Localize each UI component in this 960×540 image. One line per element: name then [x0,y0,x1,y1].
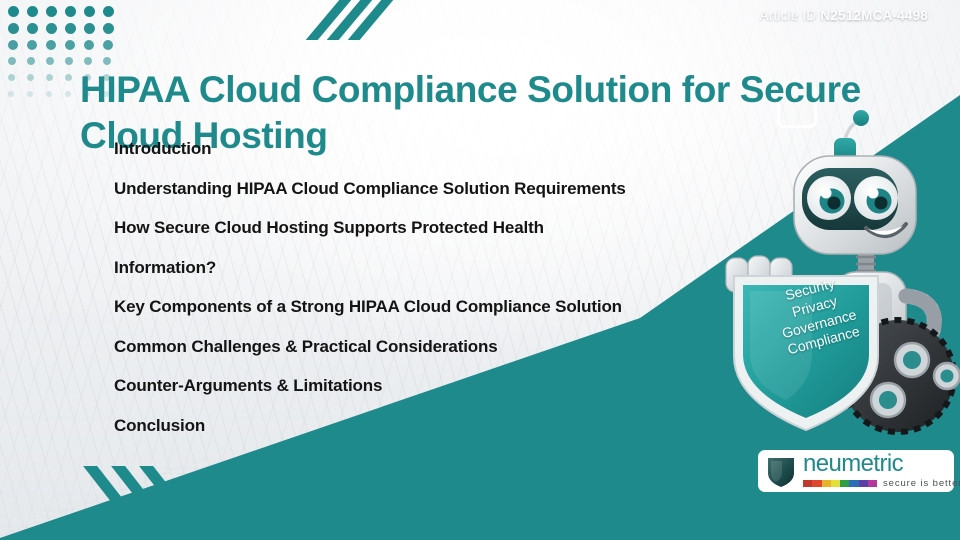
slide-canvas: Article ID N2512MCA-4498 HIPAA Cloud Com… [0,0,960,540]
robot-eye-glint-right [868,188,879,199]
logo-name: neumetric [803,453,946,476]
toc-item-secure-hosting-cont[interactable]: Information? [114,259,754,276]
toc-item-common-challenges[interactable]: Common Challenges & Practical Considerat… [114,338,754,355]
robot-antenna-ball [853,110,869,126]
logo-tagline: secure is better [883,478,960,489]
toc-item-conclusion[interactable]: Conclusion [114,417,754,434]
article-id-label: Article ID [760,8,817,23]
robot-eye-glint-left [821,188,832,199]
top-diagonal-stripes [325,0,379,40]
toc-item-counter-arguments[interactable]: Counter-Arguments & Limitations [114,377,754,394]
logo-wordmark-block: neumetric secure is better [803,453,946,489]
article-id: Article ID N2512MCA-4498 [760,8,928,23]
shield-logo-icon [766,454,796,488]
logo-color-bar [803,480,877,487]
robot-mascot-illustration: Security Privacy Governance Compliance [716,108,960,438]
logo-subline: secure is better [803,478,946,489]
robot-svg [716,108,960,438]
table-of-contents: Introduction Understanding HIPAA Cloud C… [114,140,754,456]
bottom-diagonal-stripes [112,466,182,540]
neumetric-logo[interactable]: neumetric secure is better [758,450,954,492]
article-id-value: N2512MCA-4498 [820,8,928,23]
toc-item-key-components[interactable]: Key Components of a Strong HIPAA Cloud C… [114,298,754,315]
toc-item-introduction[interactable]: Introduction [114,140,754,157]
toc-item-understanding[interactable]: Understanding HIPAA Cloud Compliance Sol… [114,180,754,197]
toc-item-secure-hosting[interactable]: How Secure Cloud Hosting Supports Protec… [114,219,754,236]
robot-pupil-right [875,197,888,210]
robot-pupil-left [828,197,841,210]
